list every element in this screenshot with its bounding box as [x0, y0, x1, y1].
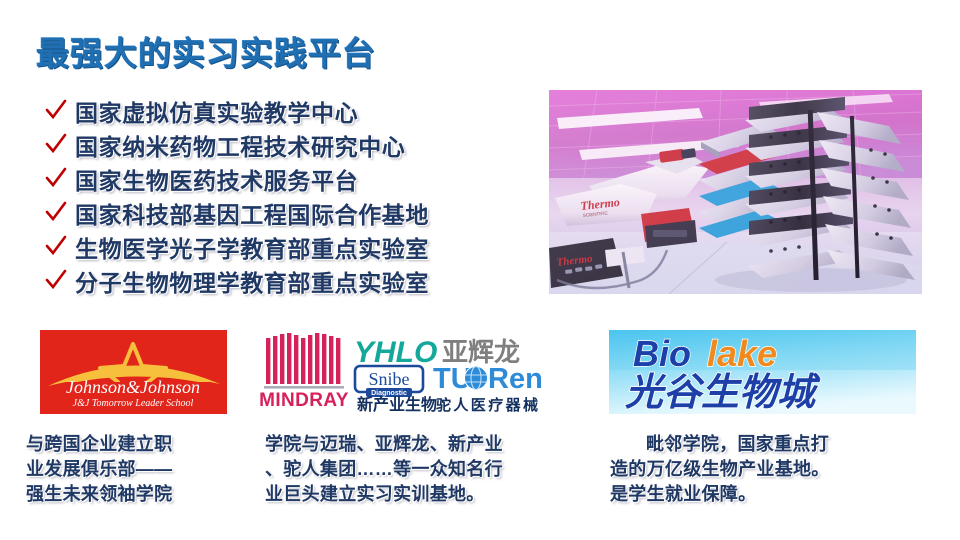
logo-biolake: Bio lake 光谷生物城 — [609, 330, 916, 414]
tuoren-wordmark-cn: 驼人医疗器械 — [436, 396, 540, 414]
snibe-wordmark-cn: 新产业生物 — [357, 395, 437, 414]
biolake-wordmark-b: lake — [707, 333, 777, 374]
list-item-label: 国家纳米药物工程技术研究中心 — [75, 128, 405, 162]
caption-line: 学院与迈瑞、亚辉龙、新产业 — [265, 434, 503, 454]
page-title: 最强大的实习实践平台 — [36, 27, 376, 75]
tuoren-mark: TU Ren — [433, 363, 543, 395]
caption-line: 、驼人集团……等一众知名行 — [265, 459, 503, 479]
svg-text:Ren: Ren — [488, 363, 543, 395]
list-item-label: 国家科技部基因工程国际合作基地 — [75, 196, 429, 230]
biolake-wordmark-cn: 光谷生物城 — [625, 372, 821, 414]
check-icon — [44, 132, 68, 156]
check-icon — [44, 234, 68, 258]
biolake-wordmark-a: Bio — [633, 333, 691, 374]
check-icon — [44, 268, 68, 292]
caption-line: 与跨国企业建立职 — [26, 434, 172, 454]
caption-line: 是学生就业保障。 — [610, 482, 922, 507]
list-item: 国家纳米药物工程技术研究中心 — [44, 128, 534, 161]
yhlo-wordmark: YHLO — [354, 336, 437, 369]
caption-line: 造的万亿级生物产业基地。 — [610, 457, 922, 482]
laboratory-photo: Thermo SCIENTIFIC Thermo — [549, 90, 922, 294]
caption-partners: 学院与迈瑞、亚辉龙、新产业 、驼人集团……等一众知名行 业巨头建立实习实训基地。 — [265, 432, 575, 507]
list-item: 国家科技部基因工程国际合作基地 — [44, 196, 534, 229]
caption-jnj: 与跨国企业建立职 业发展俱乐部—— 强生未来领袖学院 — [26, 432, 250, 507]
svg-text:Snibe: Snibe — [368, 369, 409, 389]
list-item-label: 分子生物物理学教育部重点实验室 — [75, 264, 429, 298]
check-icon — [44, 166, 68, 190]
list-item-label: 生物医学光子学教育部重点实验室 — [75, 230, 429, 264]
slide-root: 最强大的实习实践平台 国家虚拟仿真实验教学中心 国家纳米药物工程技术研究中心 国… — [0, 0, 960, 540]
caption-line: 毗邻学院，国家重点打 — [646, 434, 829, 454]
list-item: 生物医学光子学教育部重点实验室 — [44, 230, 534, 263]
list-item-label: 国家虚拟仿真实验教学中心 — [75, 94, 358, 128]
logo-wordmark: Johnson&Johnson — [66, 377, 200, 397]
logo-johnson-johnson: Johnson&Johnson J&J Tomorrow Leader Scho… — [40, 330, 227, 414]
logo-subtitle: J&J Tomorrow Leader School — [73, 398, 194, 409]
list-item: 国家生物医药技术服务平台 — [44, 162, 534, 195]
caption-line: 强生未来领袖学院 — [26, 484, 172, 504]
check-icon — [44, 98, 68, 122]
caption-line: 业巨头建立实习实训基地。 — [265, 484, 485, 504]
list-item: 国家虚拟仿真实验教学中心 — [44, 94, 534, 127]
caption-biolake: 毗邻学院，国家重点打 造的万亿级生物产业基地。 是学生就业保障。 — [610, 432, 922, 507]
list-item: 分子生物物理学教育部重点实验室 — [44, 264, 534, 297]
svg-text:Diagnostic: Diagnostic — [371, 390, 407, 397]
logo-group-partners: MINDRAY YHLO 亚辉龙 Snibe Diagnostic 新产业生物 … — [258, 330, 578, 414]
caption-line: 业发展俱乐部—— — [26, 459, 172, 479]
svg-text:MINDRAY: MINDRAY — [259, 390, 349, 411]
achievements-list: 国家虚拟仿真实验教学中心 国家纳米药物工程技术研究中心 国家生物医药技术服务平台… — [44, 94, 534, 298]
list-item-label: 国家生物医药技术服务平台 — [75, 162, 358, 196]
check-icon — [44, 200, 68, 224]
snibe-mark: Snibe Diagnostic — [355, 366, 423, 397]
